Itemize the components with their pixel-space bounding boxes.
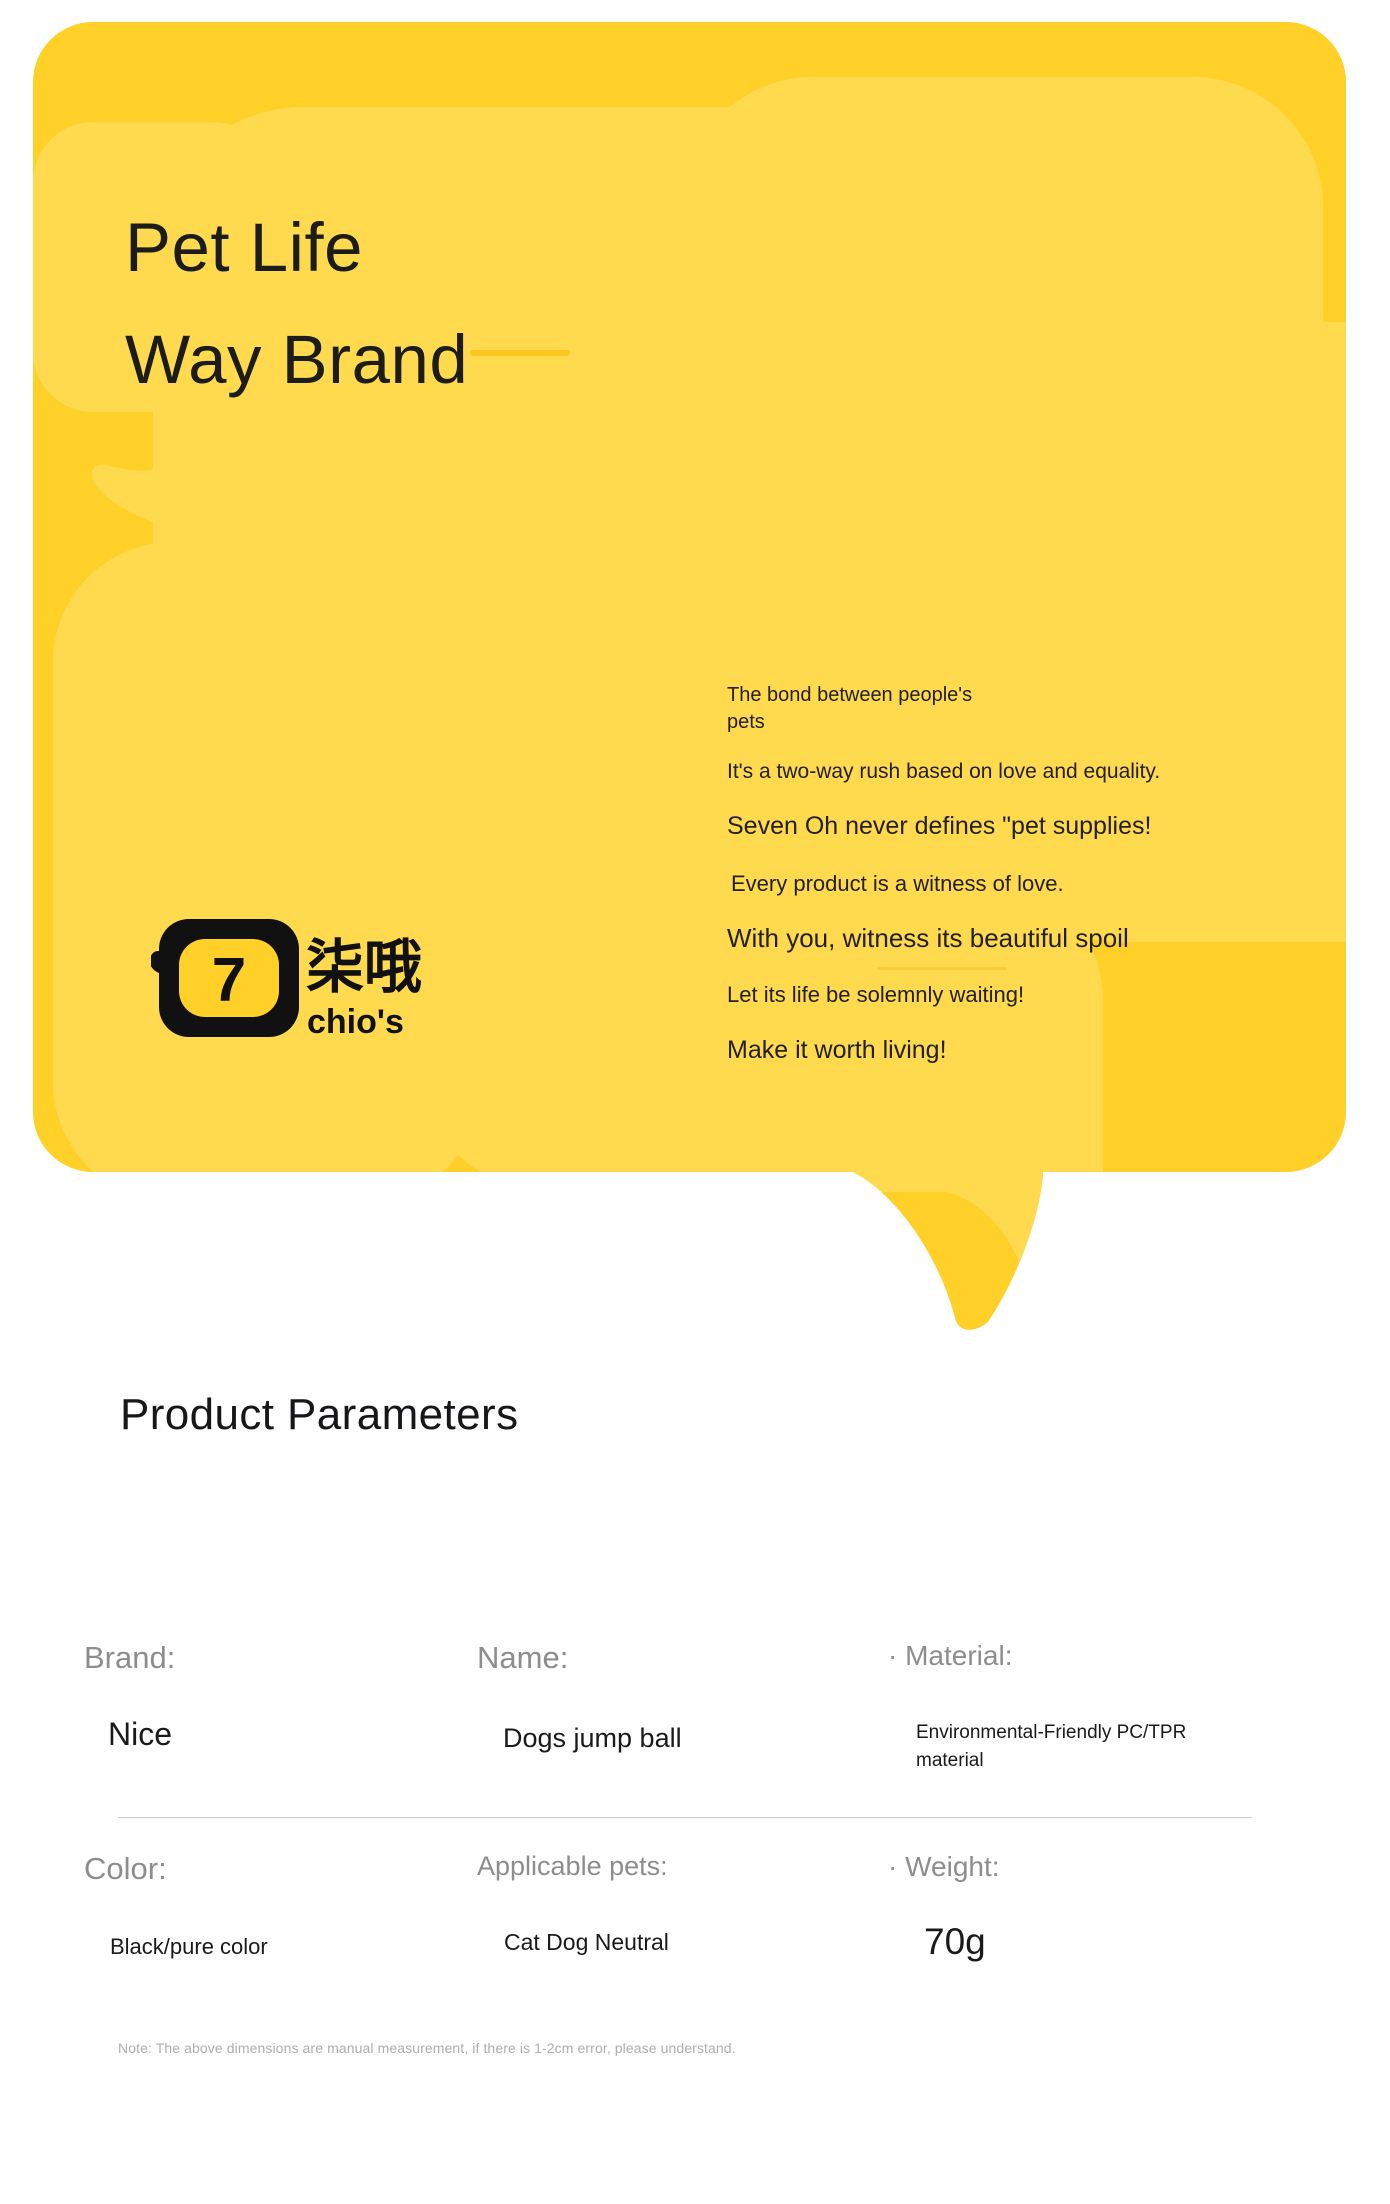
param-name: Name: Dogs jump ball — [477, 1640, 682, 1754]
param-pets-value: Cat Dog Neutral — [504, 1929, 669, 1956]
param-weight: · Weight: 70g — [888, 1851, 1000, 1963]
brand-statement-block: The bond between people's pets It's a tw… — [727, 682, 1287, 1067]
brand-logo: 7 柒哦 chio's — [151, 907, 451, 1047]
param-color: Color: Black/pure color — [84, 1851, 268, 1960]
statement-line-6: Let its life be solemnly waiting! — [727, 980, 1287, 1010]
param-name-label: Name: — [477, 1640, 682, 1676]
statement-line-7: Make it worth living! — [727, 1034, 1287, 1068]
brand-logo-svg: 7 柒哦 chio's — [151, 907, 451, 1047]
param-material-value: Environmental-Friendly PC/TPR material — [916, 1719, 1228, 1774]
measurement-note: Note: The above dimensions are manual me… — [118, 2040, 736, 2056]
param-brand-value: Nice — [108, 1716, 175, 1753]
hero-headline: Pet Life Way Brand — [125, 192, 468, 416]
statement-line-5: With you, witness its beautiful spoil — [727, 921, 1287, 956]
statement-line-2: It's a two-way rush based on love and eq… — [727, 758, 1287, 786]
statement-line-1: The bond between people's pets — [727, 682, 1287, 736]
param-color-label: Color: — [84, 1851, 268, 1887]
param-brand-label: Brand: — [84, 1640, 175, 1676]
product-detail-page: Pet Life Way Brand 7 柒哦 chio's — [0, 0, 1390, 2204]
param-weight-value: 70g — [924, 1921, 1000, 1963]
headline-underline-accent — [470, 350, 570, 356]
seven-bubble-icon: 7 — [151, 919, 299, 1037]
param-color-value: Black/pure color — [110, 1934, 268, 1960]
param-material: · Material: Environmental-Friendly PC/TP… — [888, 1640, 1228, 1774]
logo-cn-name: 柒哦 — [306, 933, 422, 1001]
parameters-divider — [118, 1817, 1252, 1818]
product-parameters-title: Product Parameters — [120, 1390, 518, 1440]
hero-speech-bubble: Pet Life Way Brand 7 柒哦 chio's — [33, 22, 1346, 1192]
statement-line-3: Seven Oh never defines "pet supplies! — [727, 810, 1287, 844]
param-material-label: · Material: — [888, 1640, 1228, 1672]
param-applicable-pets: Applicable pets: Cat Dog Neutral — [477, 1851, 669, 1956]
parameters-row: Brand: Nice Name: Dogs jump ball · Mater… — [0, 1640, 1390, 1815]
param-brand: Brand: Nice — [84, 1640, 175, 1753]
logo-latin-name: chio's — [307, 1003, 404, 1041]
statement-line-4: Every product is a witness of love. — [731, 869, 1287, 899]
parameters-row: Color: Black/pure color Applicable pets:… — [0, 1851, 1390, 2026]
parameters-table: Brand: Nice Name: Dogs jump ball · Mater… — [0, 1640, 1390, 2026]
param-name-value: Dogs jump ball — [503, 1723, 682, 1754]
svg-text:7: 7 — [212, 946, 246, 1015]
param-weight-label: · Weight: — [888, 1851, 1000, 1883]
param-pets-label: Applicable pets: — [477, 1851, 669, 1882]
